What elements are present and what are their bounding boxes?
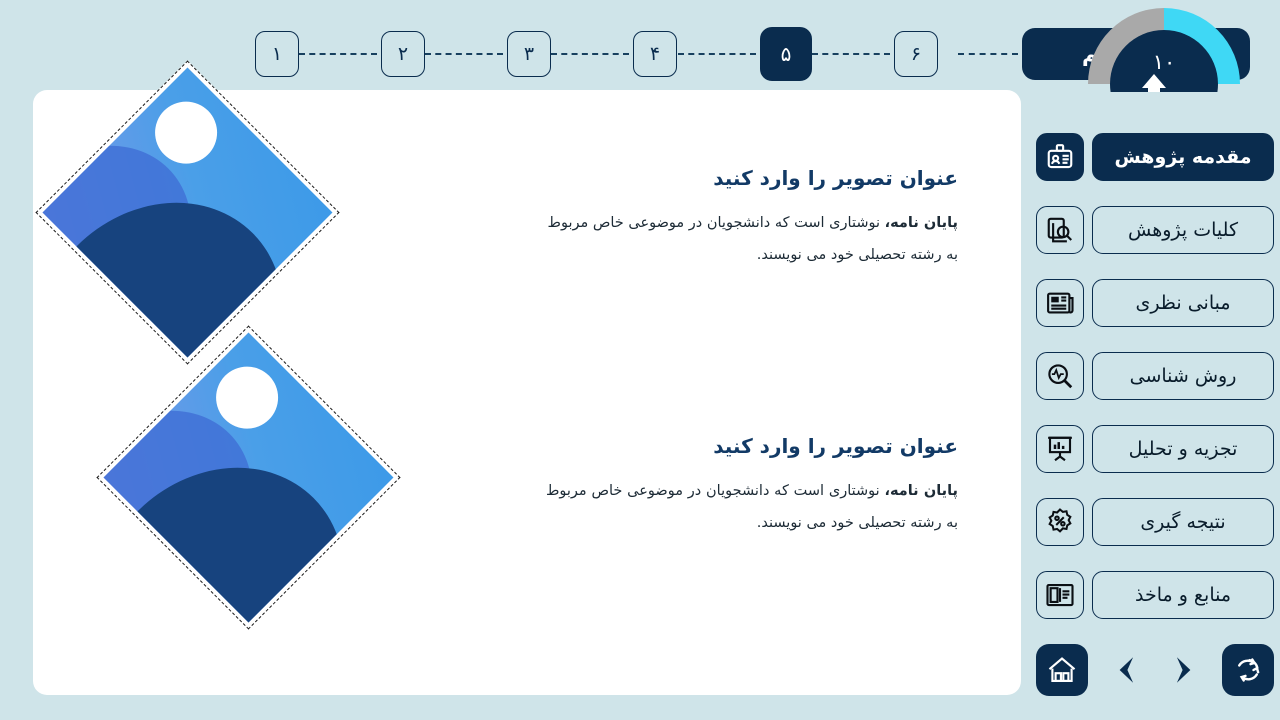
refresh-icon [1232, 654, 1264, 686]
step-box-3[interactable]: ۳ [507, 31, 551, 77]
step-label: ۴ [650, 43, 660, 65]
section-menu: مقدمه پژوهش کلیات پژوهش [1036, 128, 1274, 639]
home-icon [1046, 654, 1078, 686]
content-block-2: عنوان تصویر را وارد کنید پایان نامه، نوش… [546, 433, 958, 539]
sidebar-item-manabe-va-maakhaz[interactable]: منابع و ماخذ [1036, 566, 1274, 624]
newspaper-icon [1036, 279, 1084, 327]
navigation-controls [1036, 640, 1274, 700]
content-block-1: عنوان تصویر را وارد کنید پایان نامه، نوش… [546, 165, 958, 271]
sun-shape [155, 102, 217, 164]
sidebar-item-moghadame-pajoohesh[interactable]: مقدمه پژوهش [1036, 128, 1274, 186]
chevron-left-icon [1109, 650, 1143, 690]
progress-gauge: ۱۰ [1088, 8, 1240, 92]
step-connector [678, 53, 756, 55]
step-connector [958, 53, 1018, 55]
step-label: ۶ [911, 43, 921, 65]
step-label: ۳ [524, 43, 534, 65]
block-body-lead: پایان نامه، [884, 483, 958, 499]
step-box-5[interactable]: ۵ [760, 27, 812, 81]
percent-badge-icon [1036, 498, 1084, 546]
step-label: ۵ [781, 42, 792, 66]
sidebar-item-label: روش شناسی [1092, 352, 1274, 400]
step-label: ۱ [272, 43, 282, 65]
step-connector [551, 53, 629, 55]
open-book-icon [1036, 571, 1084, 619]
magnifier-pulse-icon [1036, 352, 1084, 400]
document-search-icon [1036, 206, 1084, 254]
step-box-2[interactable]: ۲ [381, 31, 425, 77]
sidebar-item-label: مقدمه پژوهش [1092, 133, 1274, 181]
prev-button[interactable] [1106, 647, 1146, 693]
sidebar-item-tajzie-va-tahlil[interactable]: تجزیه و تحلیل [1036, 420, 1274, 478]
slide-canvas: بخش پنجم ۶ ۵ ۴ ۳ ۲ ۱ ۱۰ [0, 0, 1280, 720]
step-box-6[interactable]: ۶ [894, 31, 938, 77]
sidebar-item-kolliyat-pajoohesh[interactable]: کلیات پژوهش [1036, 201, 1274, 259]
step-connector [425, 53, 503, 55]
presentation-chart-icon [1036, 425, 1084, 473]
mountain-photo-icon [104, 333, 394, 623]
block-title: عنوان تصویر را وارد کنید [546, 433, 958, 459]
sidebar-item-label: مبانی نظری [1092, 279, 1274, 327]
content-card: عنوان تصویر را وارد کنید پایان نامه، نوش… [33, 90, 1021, 695]
block-title: عنوان تصویر را وارد کنید [546, 165, 958, 191]
image-placeholder-2[interactable] [96, 325, 400, 629]
sidebar-item-label: منابع و ماخذ [1092, 571, 1274, 619]
chevron-right-icon [1167, 650, 1201, 690]
image-placeholder-1[interactable] [35, 60, 339, 364]
next-button[interactable] [1164, 647, 1204, 693]
sidebar-item-mabani-nazari[interactable]: مبانی نظری [1036, 274, 1274, 332]
gauge-value: ۱۰ [1088, 52, 1240, 73]
block-body: پایان نامه، نوشتاری است که دانشجویان در … [546, 475, 958, 539]
sidebar-item-ravesh-shenasi[interactable]: روش شناسی [1036, 347, 1274, 405]
sidebar-item-natije-giri[interactable]: نتیجه گیری [1036, 493, 1274, 551]
step-label: ۲ [398, 43, 408, 65]
block-body-lead: پایان نامه، [885, 215, 958, 231]
step-connector [812, 53, 890, 55]
step-box-1[interactable]: ۱ [255, 31, 299, 77]
sidebar-item-label: تجزیه و تحلیل [1092, 425, 1274, 473]
home-button[interactable] [1036, 644, 1088, 696]
sidebar-item-label: نتیجه گیری [1092, 498, 1274, 546]
block-body: پایان نامه، نوشتاری است که دانشجویان در … [546, 207, 958, 271]
step-connector [299, 53, 377, 55]
refresh-button[interactable] [1222, 644, 1274, 696]
sun-shape [216, 367, 278, 429]
mountain-photo-icon [43, 68, 333, 358]
step-box-4[interactable]: ۴ [633, 31, 677, 77]
sidebar-item-label: کلیات پژوهش [1092, 206, 1274, 254]
id-badge-icon [1036, 133, 1084, 181]
